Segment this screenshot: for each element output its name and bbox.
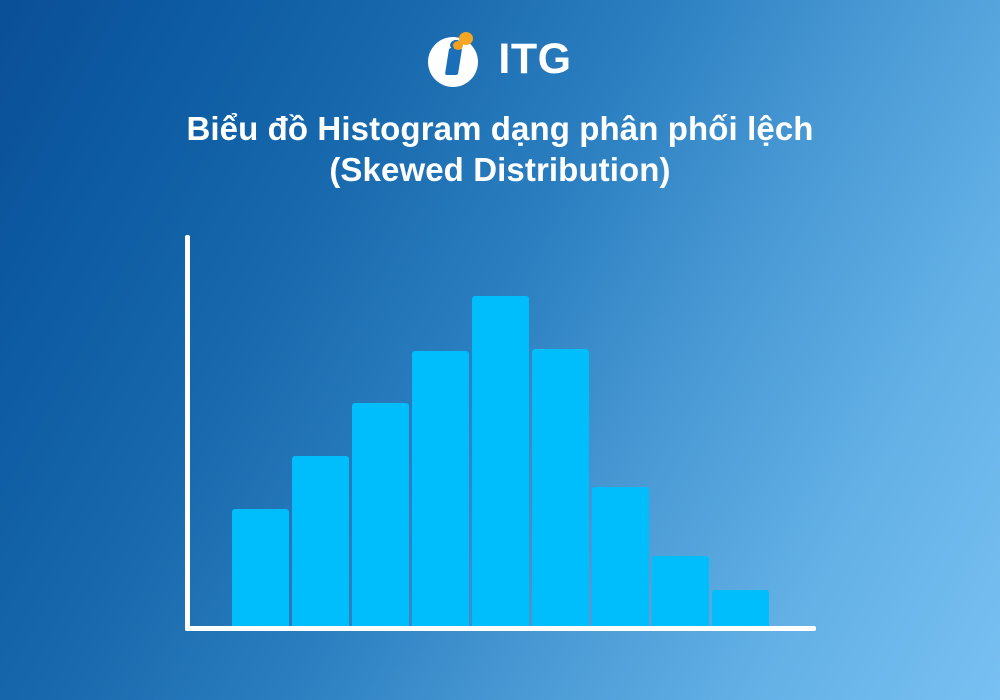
histogram-bar bbox=[532, 349, 589, 626]
histogram-bar bbox=[352, 403, 409, 626]
title-line-secondary: (Skewed Distribution) bbox=[0, 149, 1000, 190]
poster-canvas: ITG Biểu đồ Histogram dạng phân phối lệc… bbox=[0, 0, 1000, 700]
brand-header: ITG bbox=[0, 28, 1000, 90]
histogram-bar bbox=[292, 456, 349, 626]
brand-wordmark: ITG bbox=[498, 38, 571, 81]
histogram-chart bbox=[182, 228, 822, 638]
page-title: Biểu đồ Histogram dạng phân phối lệch (S… bbox=[0, 108, 1000, 190]
plot-area bbox=[182, 228, 822, 638]
histogram-bar bbox=[472, 296, 529, 626]
logo-accent-dot-large bbox=[459, 32, 473, 45]
histogram-bar bbox=[412, 351, 469, 626]
histogram-bar bbox=[592, 487, 649, 626]
histogram-bar bbox=[652, 556, 709, 626]
histogram-bar bbox=[712, 590, 769, 626]
itg-logo-icon bbox=[428, 31, 484, 87]
title-line-primary: Biểu đồ Histogram dạng phân phối lệch bbox=[0, 108, 1000, 149]
histogram-bar bbox=[232, 509, 289, 626]
